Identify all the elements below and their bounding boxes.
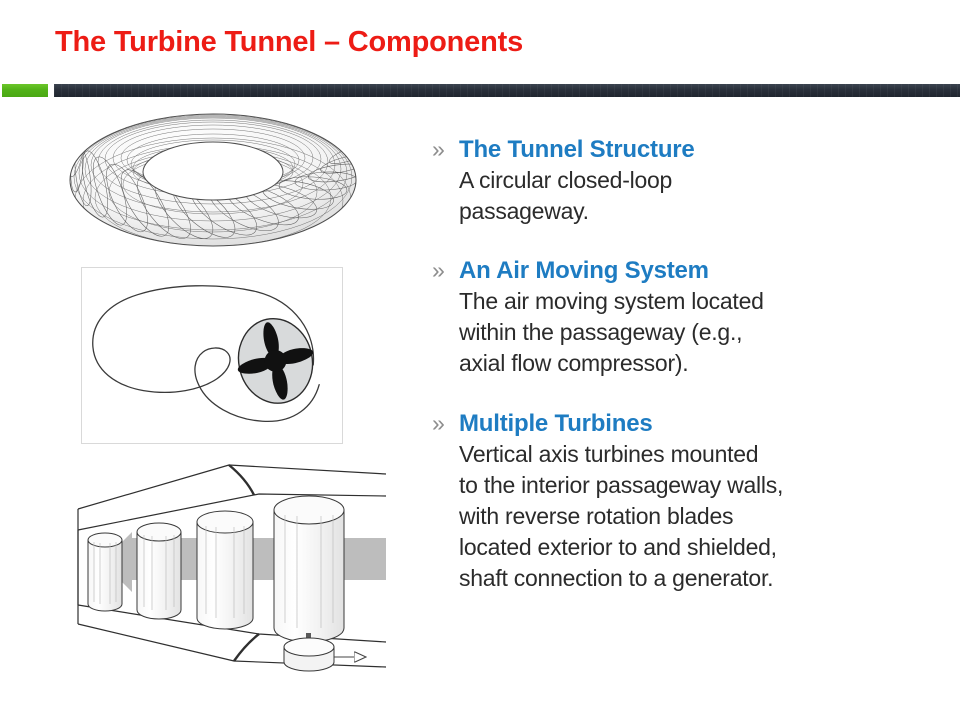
turbine-cylinder [137,523,181,619]
guillemet-bullet-icon: » [432,255,458,286]
slide-canvas: The Turbine Tunnel – Components [0,0,960,720]
guillemet-bullet-icon: » [432,134,458,165]
turbine-cylinder [88,533,122,611]
bullet-list: » The Tunnel Structure A circular closed… [432,134,937,614]
bullet-item-tunnel-structure: » The Tunnel Structure A circular closed… [432,134,937,227]
loop-duct-with-fan-diagram [81,267,343,444]
divider-accent-block [2,84,48,97]
bullet-heading: The Tunnel Structure [459,134,937,165]
bullet-heading: Multiple Turbines [459,408,937,439]
axial-fan-icon [229,312,321,410]
tunnel-interior-turbines-diagram [22,452,386,677]
page-title: The Turbine Tunnel – Components [55,26,523,59]
bullet-item-multiple-turbines: » Multiple Turbines Vertical axis turbin… [432,408,937,594]
bullet-heading: An Air Moving System [459,255,937,286]
bullet-text: The air moving system located within the… [459,286,937,379]
header-divider [0,84,960,97]
bullet-item-air-moving-system: » An Air Moving System The air moving sy… [432,255,937,379]
torus-wireframe-diagram [63,106,363,253]
torus-svg [63,106,363,253]
guillemet-bullet-icon: » [432,408,458,439]
turbine-cylinder [197,511,253,629]
bullet-text: Vertical axis turbines mounted to the in… [459,439,937,594]
divider-bar [54,84,960,97]
bullet-text: A circular closed-loop passageway. [459,165,937,227]
loop-duct-svg [82,268,342,443]
turbine-cylinder [274,496,344,642]
tunnel-svg [22,452,386,677]
